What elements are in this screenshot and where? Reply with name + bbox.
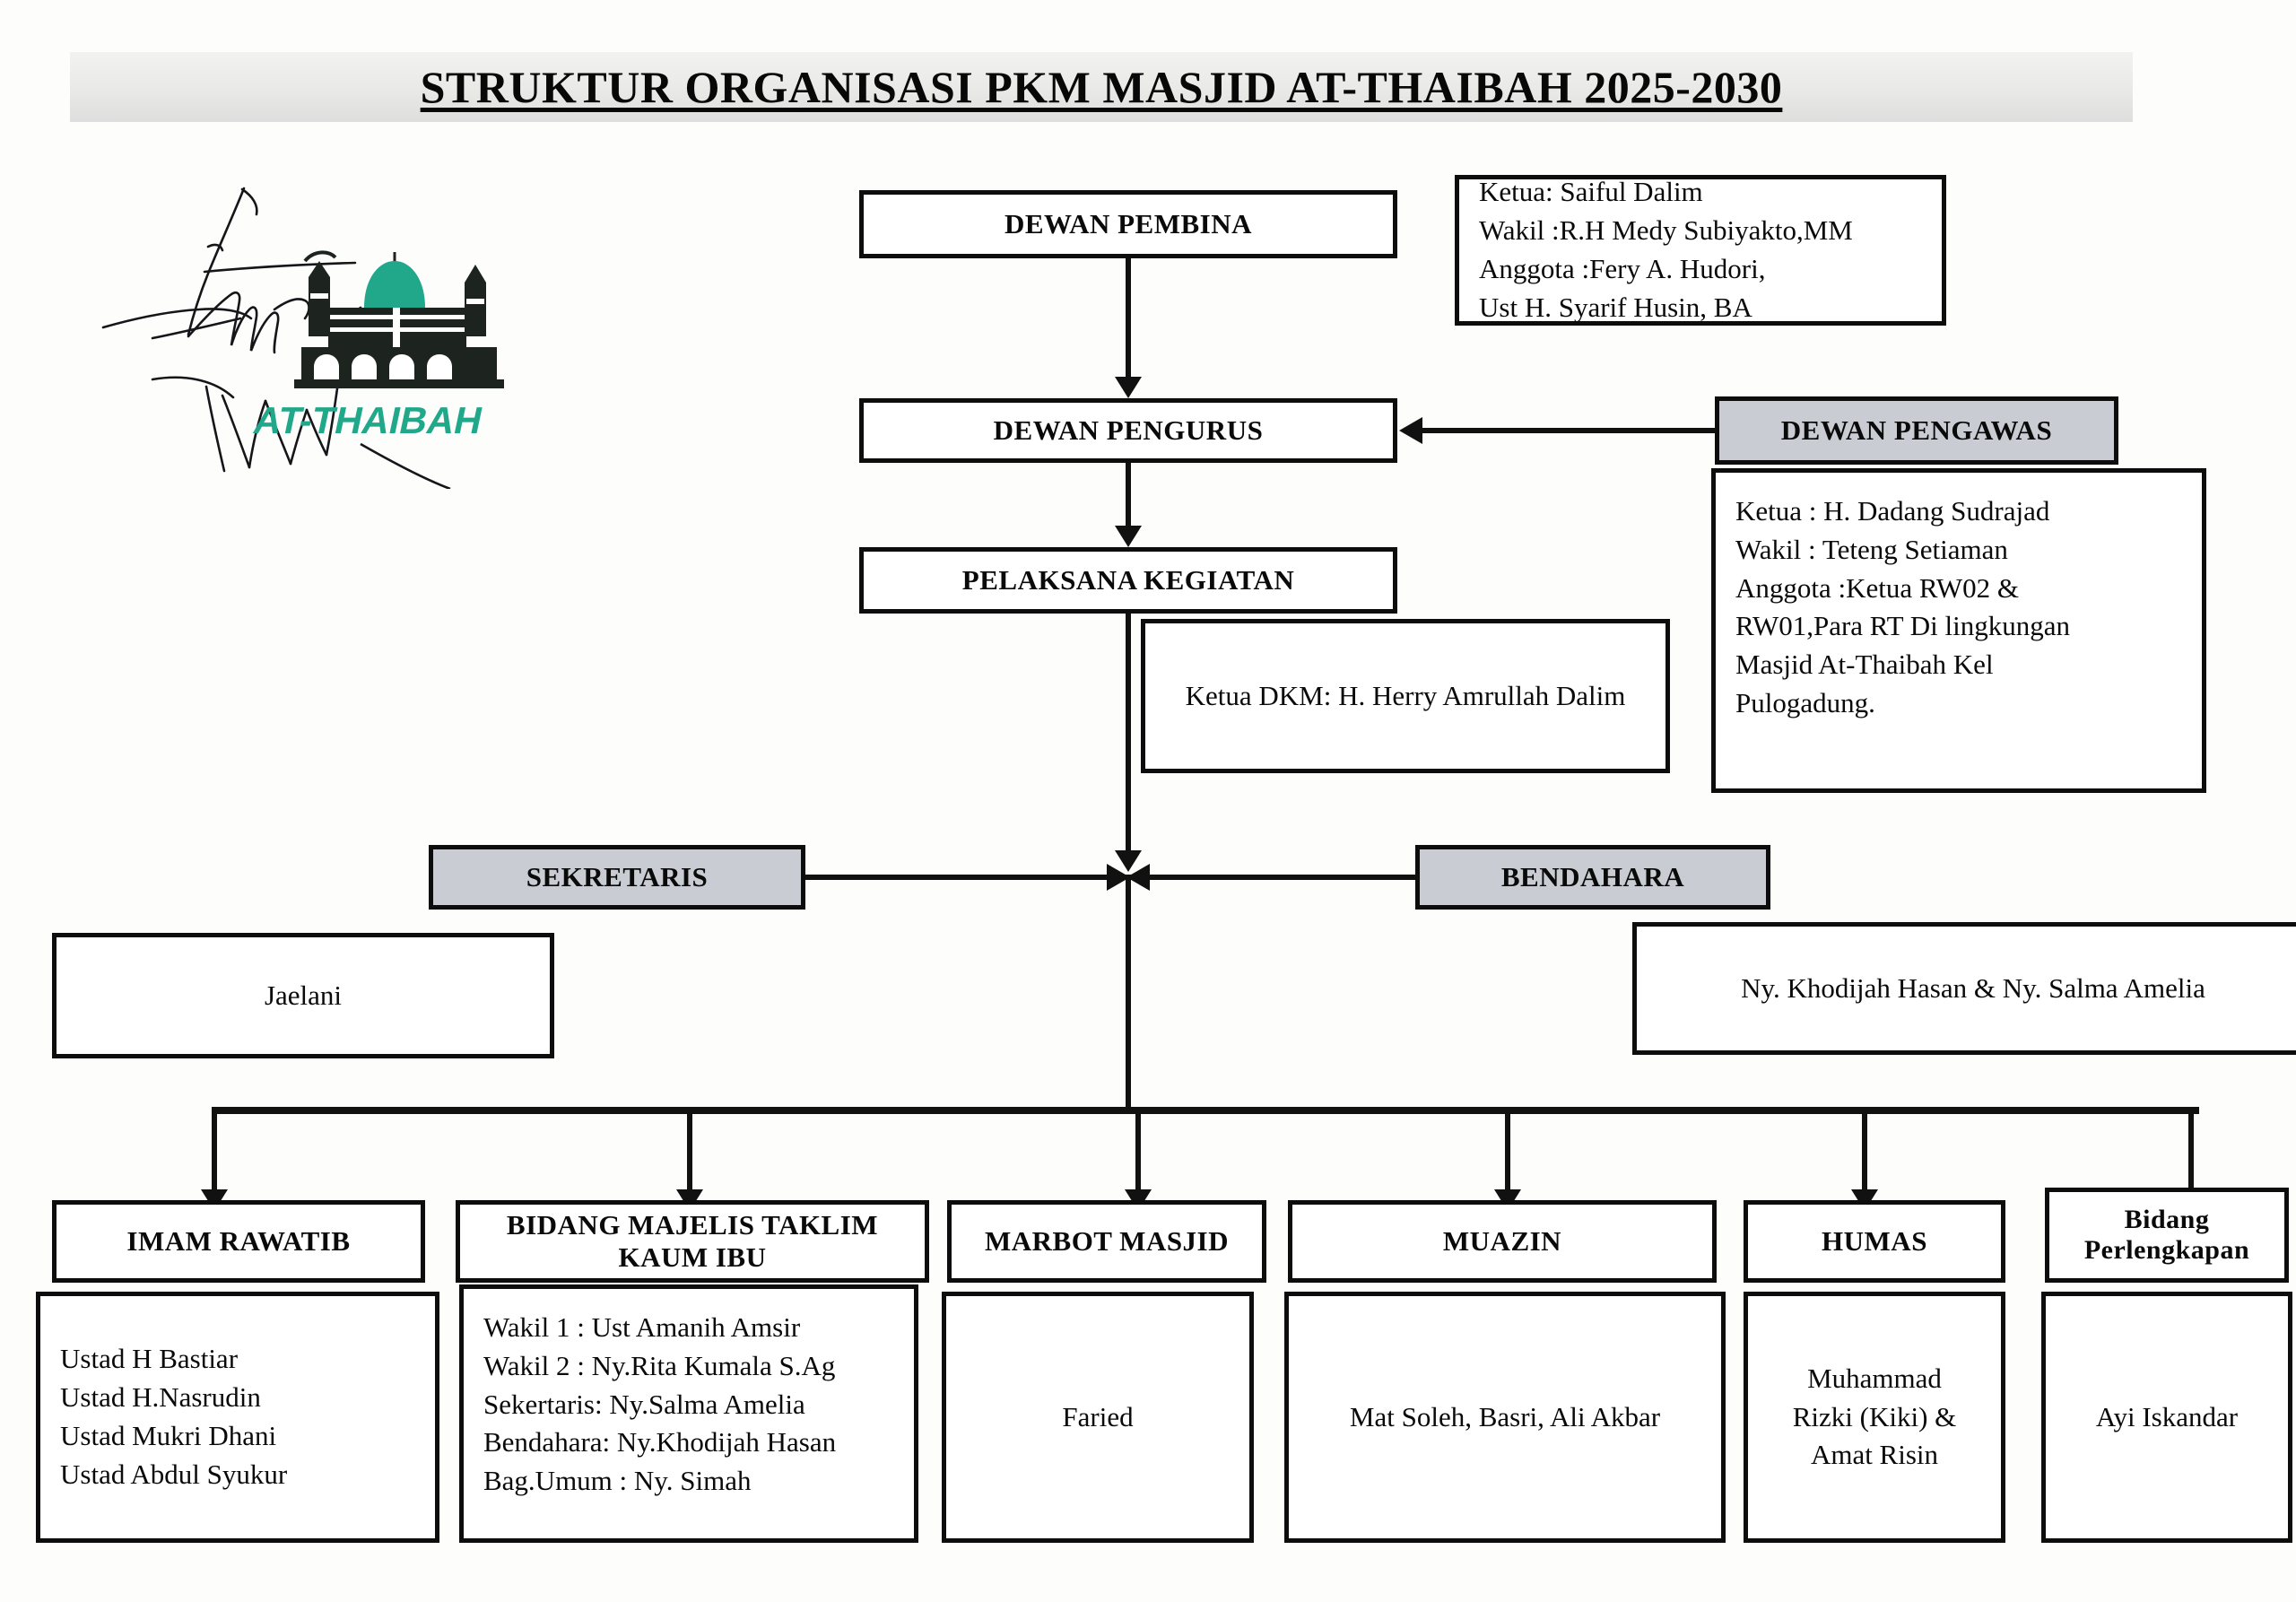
detail-dewan-pembina: Ketua: Saiful Dalim Wakil :R.H Medy Subi… (1455, 175, 1946, 326)
connector-drop-5 (1862, 1107, 1867, 1197)
detail-sekretaris-text: Jaelani (265, 977, 342, 1015)
division-members-bidang-majelis-taklim-kaum-ibu: Wakil 1 : Ust Amanih Amsir Wakil 2 : Ny.… (459, 1284, 918, 1543)
division-header-muazin[interactable]: MUAZIN (1288, 1200, 1717, 1283)
node-dewan-pengawas[interactable]: DEWAN PENGAWAS (1715, 396, 2118, 465)
division-members-bidang-perlengkapan-text: Ayi Iskandar (2096, 1398, 2238, 1437)
division-members-marbot-masjid: Faried (942, 1292, 1254, 1543)
node-dewan-pembina[interactable]: DEWAN PEMBINA (859, 190, 1397, 258)
connector-pengawas-pengurus (1422, 428, 1717, 433)
division-header-marbot-masjid-label: MARBOT MASJID (985, 1225, 1229, 1258)
detail-dewan-pengawas-text: Ketua : H. Dadang Sudrajad Wakil : Teten… (1735, 492, 2070, 723)
division-members-marbot-masjid-text: Faried (1062, 1398, 1133, 1437)
division-header-humas-label: HUMAS (1822, 1225, 1927, 1258)
node-dewan-pengurus[interactable]: DEWAN PENGURUS (859, 398, 1397, 463)
division-members-imam-rawatib: Ustad H Bastiar Ustad H.Nasrudin Ustad M… (36, 1292, 439, 1543)
node-bendahara-label: BENDAHARA (1501, 861, 1684, 893)
arrow-pengawas-pengurus (1399, 417, 1422, 444)
detail-dewan-pengawas: Ketua : H. Dadang Sudrajad Wakil : Teten… (1711, 468, 2206, 793)
division-header-imam-rawatib-label: IMAM RAWATIB (126, 1225, 350, 1258)
connector-drop-4 (1505, 1107, 1510, 1197)
division-header-imam-rawatib[interactable]: IMAM RAWATIB (52, 1200, 425, 1283)
connector-pengurus-pelaksana (1126, 463, 1131, 533)
division-members-imam-rawatib-text: Ustad H Bastiar Ustad H.Nasrudin Ustad M… (60, 1340, 287, 1493)
page-title: STRUKTUR ORGANISASI PKM MASJID AT-THAIBA… (421, 61, 1783, 113)
division-members-humas-text: Muhammad Rizki (Kiki) & Amat Risin (1793, 1360, 1957, 1475)
detail-sekretaris: Jaelani (52, 933, 554, 1058)
division-header-bidang-perlengkapan-label: Bidang Perlengkapan (2084, 1205, 2249, 1267)
node-bendahara[interactable]: BENDAHARA (1415, 845, 1770, 910)
detail-ketua-dkm-text: Ketua DKM: H. Herry Amrullah Dalim (1186, 677, 1626, 716)
connector-bendahara-spine (1144, 875, 1419, 880)
division-header-muazin-label: MUAZIN (1443, 1225, 1561, 1258)
connector-drop-6 (2188, 1107, 2194, 1197)
arrow-pengurus-pelaksana (1115, 526, 1142, 547)
division-header-bidang-perlengkapan[interactable]: Bidang Perlengkapan (2045, 1188, 2289, 1283)
node-pelaksana-kegiatan[interactable]: PELAKSANA KEGIATAN (859, 547, 1397, 614)
connector-drop-2 (687, 1107, 692, 1197)
division-header-humas[interactable]: HUMAS (1744, 1200, 2005, 1283)
node-pelaksana-kegiatan-label: PELAKSANA KEGIATAN (962, 564, 1294, 596)
detail-bendahara: Ny. Khodijah Hasan & Ny. Salma Amelia (1632, 922, 2296, 1055)
logo-wordmark: AT-THAIBAH (250, 399, 486, 440)
division-members-bidang-majelis-taklim-kaum-ibu-text: Wakil 1 : Ust Amanih Amsir Wakil 2 : Ny.… (483, 1309, 836, 1501)
connector-drop-1 (212, 1107, 217, 1197)
division-members-muazin: Mat Soleh, Basri, Ali Akbar (1284, 1292, 1726, 1543)
division-members-muazin-text: Mat Soleh, Basri, Ali Akbar (1350, 1398, 1660, 1437)
masjid-at-thaibah-logo: AT-THAIBAH (99, 175, 520, 489)
connector-pembina-pengurus (1126, 258, 1131, 384)
node-sekretaris-label: SEKRETARIS (526, 861, 709, 893)
node-dewan-pembina-label: DEWAN PEMBINA (1004, 208, 1252, 240)
connector-spine-upper (1126, 614, 1131, 858)
division-header-bidang-majelis-taklim-kaum-ibu-label: BIDANG MAJELIS TAKLIM KAUM IBU (507, 1209, 878, 1273)
title-banner: STRUKTUR ORGANISASI PKM MASJID AT-THAIBA… (70, 52, 2133, 122)
division-members-bidang-perlengkapan: Ayi Iskandar (2041, 1292, 2292, 1543)
node-sekretaris[interactable]: SEKRETARIS (429, 845, 805, 910)
detail-ketua-dkm: Ketua DKM: H. Herry Amrullah Dalim (1141, 619, 1670, 773)
connector-drop-3 (1135, 1107, 1141, 1197)
node-dewan-pengurus-label: DEWAN PENGURUS (994, 414, 1264, 447)
detail-dewan-pembina-text: Ketua: Saiful Dalim Wakil :R.H Medy Subi… (1479, 173, 1853, 326)
division-members-humas: Muhammad Rizki (Kiki) & Amat Risin (1744, 1292, 2005, 1543)
connector-spine-lower (1126, 875, 1131, 1110)
detail-bendahara-text: Ny. Khodijah Hasan & Ny. Salma Amelia (1741, 970, 2205, 1008)
connector-sekretaris-spine (805, 875, 1112, 880)
connector-division-bus (212, 1107, 2199, 1114)
division-header-bidang-majelis-taklim-kaum-ibu[interactable]: BIDANG MAJELIS TAKLIM KAUM IBU (456, 1200, 929, 1283)
division-header-marbot-masjid[interactable]: MARBOT MASJID (947, 1200, 1266, 1283)
node-dewan-pengawas-label: DEWAN PENGAWAS (1781, 414, 2052, 447)
arrow-pembina-pengurus (1115, 377, 1142, 398)
